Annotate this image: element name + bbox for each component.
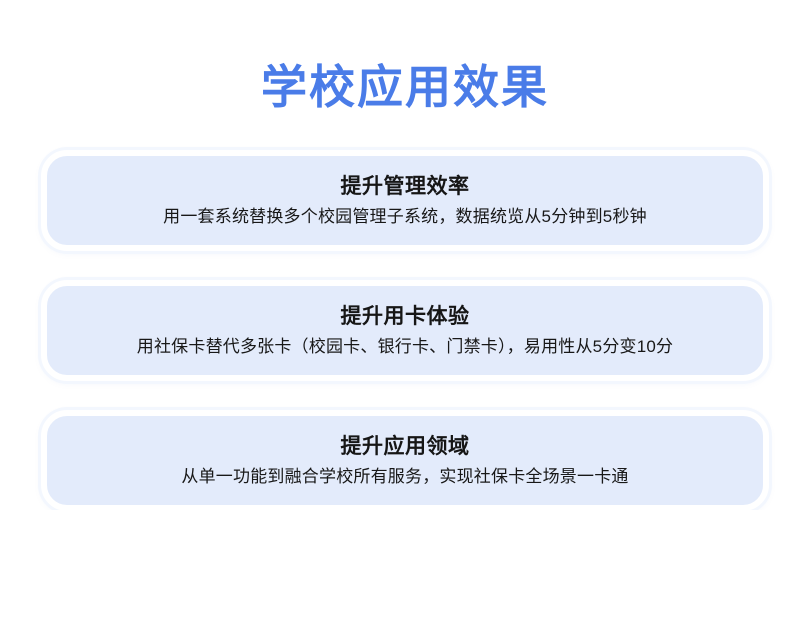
effect-card-card-experience: 提升用卡体验 用社保卡替代多张卡（校园卡、银行卡、门禁卡），易用性从5分变10分 — [41, 280, 769, 381]
card-title: 提升用卡体验 — [341, 303, 470, 331]
effect-card-management-efficiency: 提升管理效率 用一套系统替换多个校园管理子系统，数据统览从5分钟到5秒钟 — [41, 150, 769, 251]
effect-card-application-scope: 提升应用领域 从单一功能到融合学校所有服务，实现社保卡全场景一卡通 — [41, 410, 769, 511]
card-title: 提升管理效率 — [341, 173, 470, 201]
school-application-effect-panel: 学校应用效果 提升管理效率 用一套系统替换多个校园管理子系统，数据统览从5分钟到… — [0, 0, 810, 622]
card-description: 用社保卡替代多张卡（校园卡、银行卡、门禁卡），易用性从5分变10分 — [137, 334, 673, 359]
page-title: 学校应用效果 — [0, 58, 810, 116]
effect-card-list: 提升管理效率 用一套系统替换多个校园管理子系统，数据统览从5分钟到5秒钟 提升用… — [41, 150, 769, 511]
card-description: 从单一功能到融合学校所有服务，实现社保卡全场景一卡通 — [181, 464, 628, 489]
card-description: 用一套系统替换多个校园管理子系统，数据统览从5分钟到5秒钟 — [163, 204, 647, 229]
bottom-whitespace — [0, 510, 810, 622]
card-title: 提升应用领域 — [341, 433, 470, 461]
